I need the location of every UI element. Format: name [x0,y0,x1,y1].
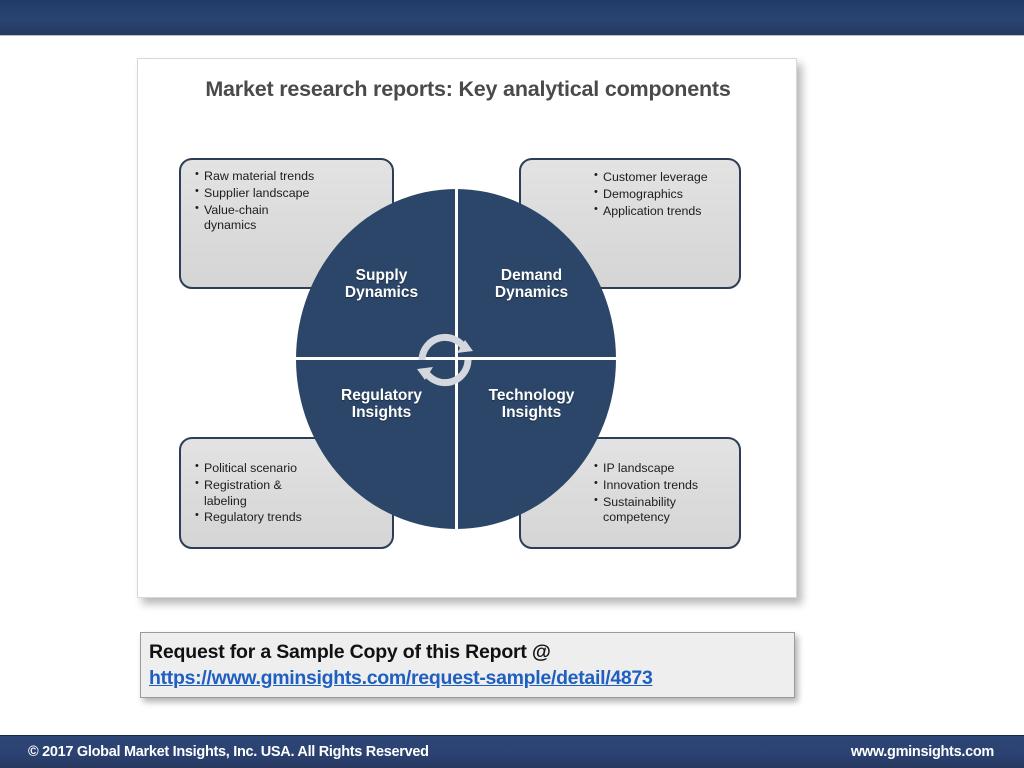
diagram-panel: Market research reports: Key analytical … [137,58,797,598]
quadrant-label-line2: Insights [502,404,561,421]
list-item-label: Value-chain [204,203,269,217]
quadrant-label-line1: Supply [356,267,408,284]
list-item-label: Customer leverage [603,170,708,184]
list-item-label: Political scenario [204,461,297,475]
cta-headline: Request for a Sample Copy of this Report… [149,641,794,664]
quadrant-label-technology[interactable]: Technology Insights [464,387,599,422]
page-title: Market research reports: Key analytical … [138,77,798,102]
quadrant-label-line2: Dynamics [345,284,418,301]
list-item-label: Supplier landscape [204,186,309,200]
list-item-label-continuation: competency [603,510,729,526]
cycle-arrows-icon [409,324,481,396]
list-item-label: Registration & [204,478,282,492]
quadrant-label-line2: Insights [352,404,411,421]
cta-box[interactable]: Request for a Sample Copy of this Report… [140,632,795,698]
quadrant-label-line1: Demand [501,267,562,284]
sample-request-link[interactable]: https://www.gminsights.com/request-sampl… [149,667,653,690]
list-item: Raw material trends [195,169,382,185]
list-item-label: Regulatory trends [204,510,302,524]
footer-website[interactable]: www.gminsights.com [851,744,994,760]
footer-copyright: © 2017 Global Market Insights, Inc. USA.… [28,744,429,760]
quadrant-circle: Supply Dynamics Demand Dynamics Regulato… [296,189,616,529]
quadrant-label-demand[interactable]: Demand Dynamics [464,267,599,302]
list-item-label: Application trends [603,204,702,218]
list-item: Customer leverage [594,170,729,186]
quadrant-label-line2: Dynamics [495,284,568,301]
list-item-label: Raw material trends [204,169,314,183]
quadrant-label-supply[interactable]: Supply Dynamics [314,267,449,302]
list-item-label: Innovation trends [603,478,698,492]
top-header-band [0,0,1024,36]
footer-band: © 2017 Global Market Insights, Inc. USA.… [0,735,1024,768]
quadrant-label-line1: Technology [489,387,575,404]
